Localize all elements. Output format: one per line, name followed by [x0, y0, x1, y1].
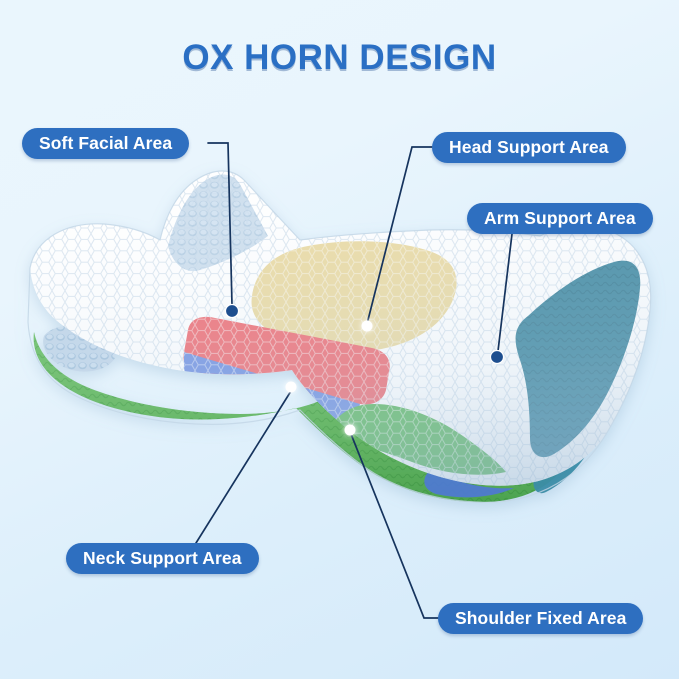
callout-arm-support-area[interactable]: Arm Support Area: [467, 203, 653, 234]
callout-head-support-area[interactable]: Head Support Area: [432, 132, 626, 163]
callout-soft-facial-area[interactable]: Soft Facial Area: [22, 128, 189, 159]
product-illustration: [0, 0, 679, 679]
infographic-canvas: OX HORN DESIGN: [0, 0, 679, 679]
callout-shoulder-fixed-area[interactable]: Shoulder Fixed Area: [438, 603, 643, 634]
callout-neck-support-area[interactable]: Neck Support Area: [66, 543, 259, 574]
